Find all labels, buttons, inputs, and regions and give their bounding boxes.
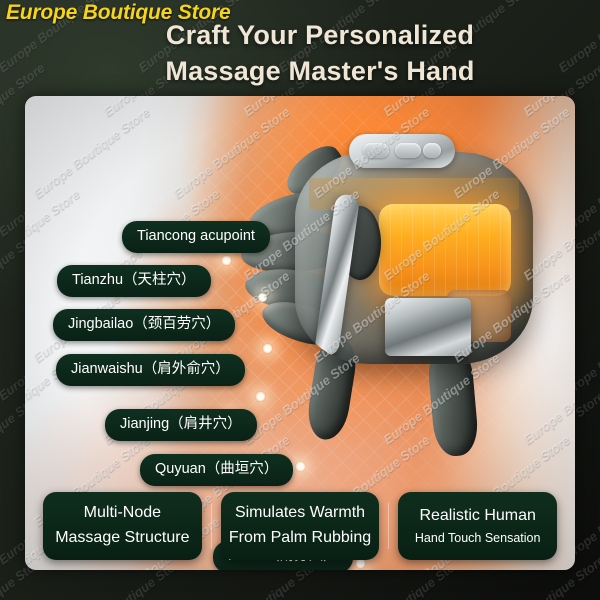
acupoint-label-5: Jianjing（肩井穴） (105, 409, 257, 441)
feature-box-1: Multi-NodeMassage Structure (43, 492, 202, 560)
acupoint-glow-dot-1 (221, 255, 232, 266)
feature-box-2: Simulates WarmthFrom Palm Rubbing (221, 492, 380, 560)
acupoint-label-6: Quyuan（曲垣穴） (140, 454, 293, 486)
acupoint-label-2: Tianzhu（天柱穴） (57, 265, 211, 297)
acupoint-glow-dot-4 (255, 391, 266, 402)
feature-line-1: Simulates Warmth (235, 501, 365, 526)
feature-divider (388, 503, 389, 549)
feature-line-2: Hand Touch Sensation (415, 529, 541, 548)
headline-line-2: Massage Master's Hand (40, 54, 600, 90)
acupoint-glow-dot-6 (295, 461, 306, 472)
feature-box-3: Realistic HumanHand Touch Sensation (398, 492, 557, 560)
feature-highlight-row: Multi-NodeMassage StructureSimulates War… (34, 492, 566, 560)
feature-line-1: Multi-Node (84, 501, 161, 526)
feature-divider (211, 503, 212, 549)
acupoint-glow-dot-3 (262, 343, 273, 354)
acupoint-glow-dot-2 (257, 292, 268, 303)
feature-line-1: Realistic Human (419, 504, 535, 529)
acupoint-label-4: Jianwaishu（肩外俞穴） (56, 354, 245, 386)
acupoint-label-1: Tiancong acupoint (122, 221, 270, 253)
feature-line-2: Massage Structure (55, 526, 189, 551)
acupoint-label-3: Jingbailao（颈百劳穴） (53, 309, 235, 341)
feature-line-2: From Palm Rubbing (229, 526, 371, 551)
store-brand-label: Europe Boutique Store (6, 1, 230, 25)
page-title: Craft Your Personalized Massage Master's… (0, 18, 600, 89)
